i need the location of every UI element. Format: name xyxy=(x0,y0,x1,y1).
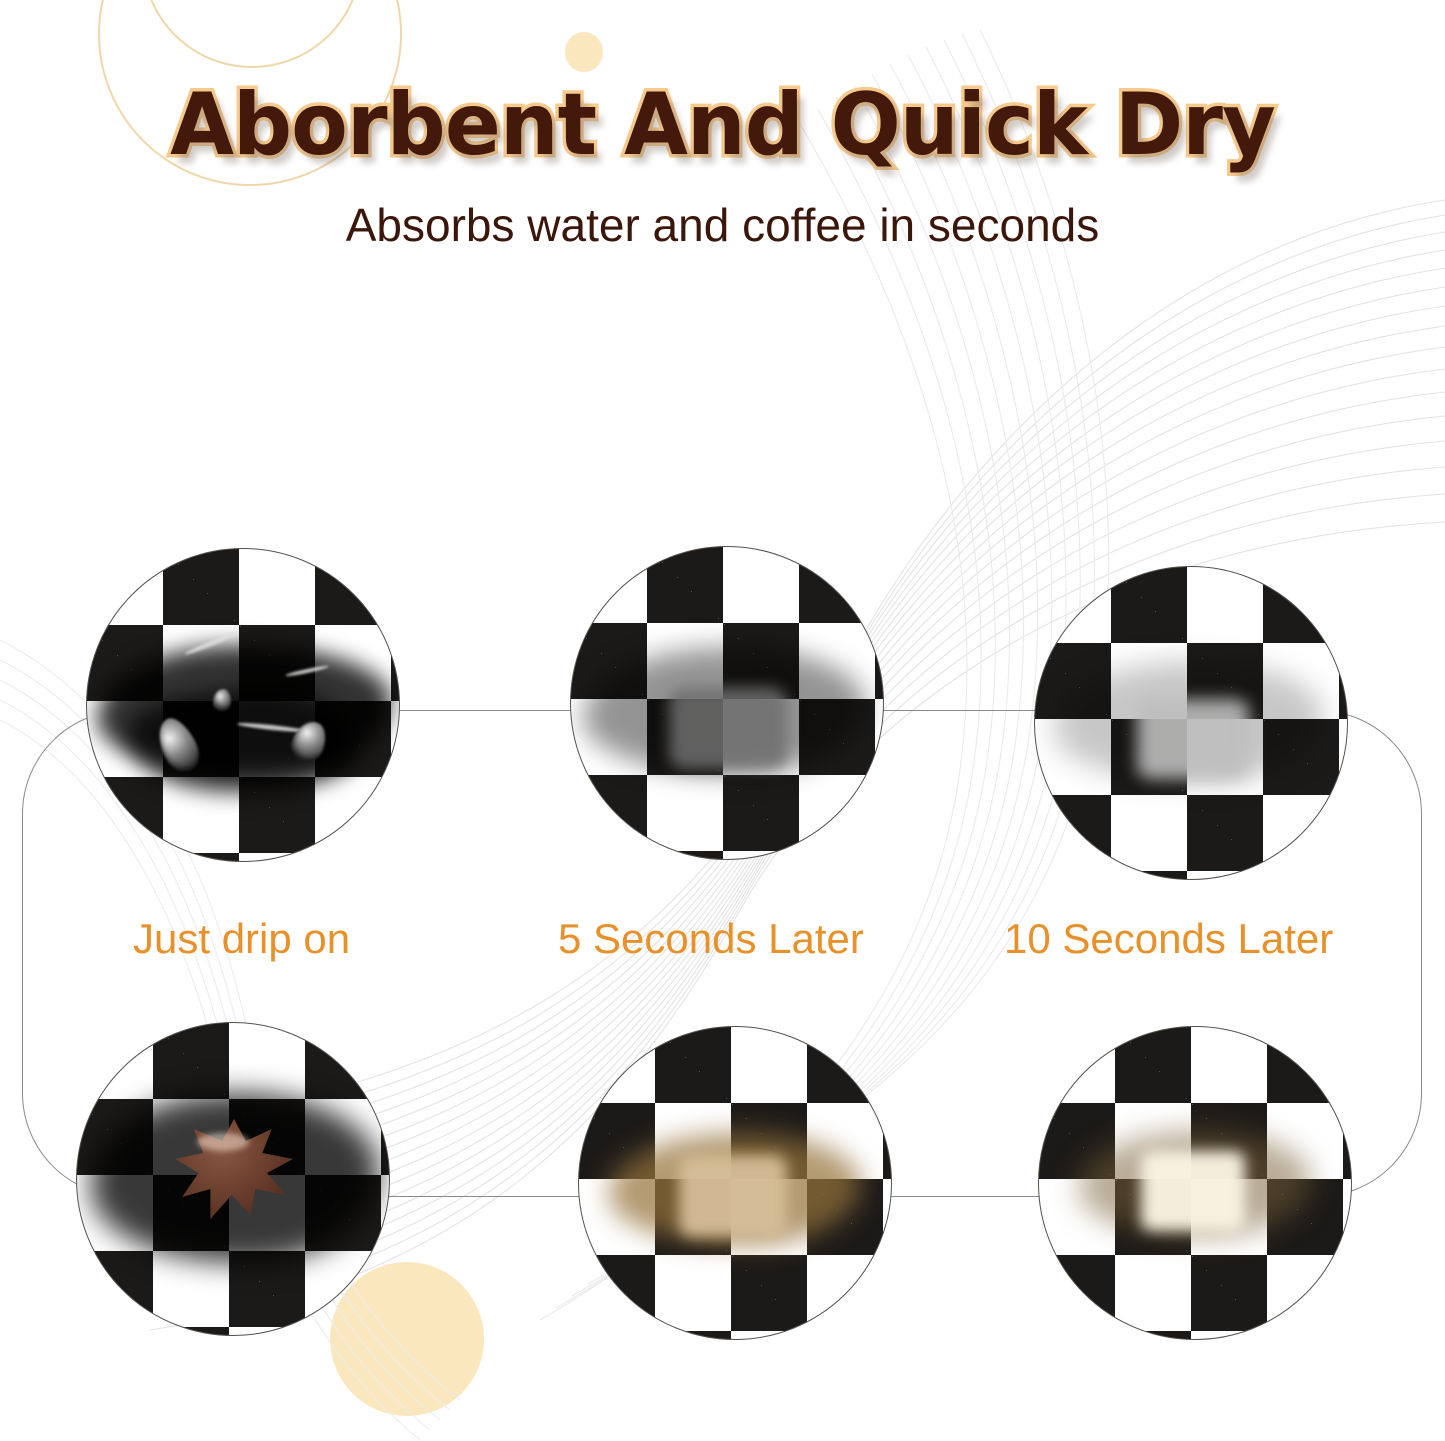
water-stage-2 xyxy=(570,546,884,860)
checkered-swatch xyxy=(86,548,400,862)
coffee-stage-3 xyxy=(1038,1026,1352,1340)
checkered-swatch xyxy=(570,546,884,860)
coffee-stage-1 xyxy=(76,1022,390,1336)
coffee-stain-core xyxy=(1141,1151,1245,1231)
water-demo-row xyxy=(0,548,1445,868)
coffee-splash-highlight xyxy=(197,1133,249,1151)
checkered-swatch xyxy=(76,1022,390,1336)
stage-label-3: 10 Seconds Later xyxy=(1004,915,1333,963)
water-stage-1 xyxy=(86,548,400,862)
header: Aborbent And Quick Dry Absorbs water and… xyxy=(0,0,1445,252)
water-stage-3 xyxy=(1034,566,1348,880)
coffee-demo-row xyxy=(0,1022,1445,1342)
stage-label-1: Just drip on xyxy=(133,915,350,963)
water-droplet-icon xyxy=(213,689,231,711)
water-stain-core xyxy=(1137,699,1249,779)
checkered-swatch xyxy=(578,1026,892,1340)
coffee-stain-core xyxy=(679,1155,787,1237)
coffee-stage-2 xyxy=(578,1026,892,1340)
page-title: Aborbent And Quick Dry xyxy=(29,0,1416,168)
checkered-swatch xyxy=(1034,566,1348,880)
water-stain-core xyxy=(669,687,787,769)
infographic-page: Aborbent And Quick Dry Absorbs water and… xyxy=(0,0,1445,1441)
page-subtitle: Absorbs water and coffee in seconds xyxy=(0,168,1445,252)
checkered-swatch xyxy=(1038,1026,1352,1340)
stage-label-2: 5 Seconds Later xyxy=(558,915,864,963)
